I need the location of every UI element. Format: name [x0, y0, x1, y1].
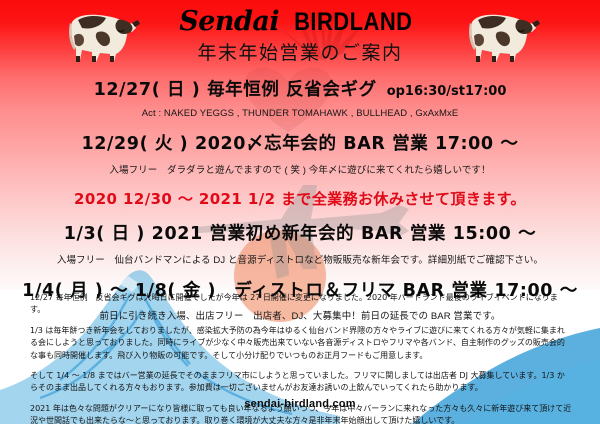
- event-subtext-1229: 入場フリー ダラダラと遊んでますので ( 笑 ) 今年〆に遊びに来てくれたら嬉し…: [0, 162, 600, 176]
- event-subtext-1227: Act : NAKED YEGGS , THUNDER TOMAHAWK , B…: [0, 108, 600, 119]
- event-title-1227: 12/27( 日 ) 毎年恒例 反省会ギグ: [94, 80, 377, 100]
- logo-script-text: Sendai: [179, 6, 279, 37]
- event-subtext-0103: 入場フリー 仙台バンドマンによる DJ と音源ディストロなど物販販売な新年会です…: [0, 252, 600, 266]
- poster-canvas: SendaiBIRDLAND 年末年始営業のご案内 12/27( 日 ) 毎年恒…: [0, 0, 600, 424]
- body-paragraph-3: そして 1/4 〜 1/8 まではバー営業の延長でそのままフリマ市にしようと思っ…: [30, 370, 572, 395]
- holiday-closure-notice: 2020 12/30 〜 2021 1/2 まで全業務お休みさせて頂きます。: [0, 188, 600, 209]
- event-headline-0103: 1/3( 日 ) 2021 営業初め新年会的 BAR 営業 15:00 〜: [0, 220, 600, 245]
- event-time-1227: op16:30/st17:00: [387, 84, 507, 99]
- brand-logo: SendaiBIRDLAND: [0, 6, 600, 37]
- body-paragraph-2: 1/3 は毎年餅つき新年会をしておりましたが、感染拡大予防の為今年はゆるく仙台バ…: [30, 325, 572, 362]
- website-url[interactable]: sendai-birdland.com: [0, 398, 600, 410]
- logo-bold-text: BIRDLAND: [294, 8, 412, 37]
- poster-subtitle: 年末年始営業のご案内: [0, 38, 600, 65]
- event-headline-1229: 12/29( 火 ) 2020〆忘年会的 BAR 営業 17:00 〜: [0, 130, 600, 155]
- poster-header: SendaiBIRDLAND 年末年始営業のご案内: [0, 0, 600, 68]
- events-section: 12/27( 日 ) 毎年恒例 反省会ギグop16:30/st17:00 Act…: [0, 70, 600, 322]
- event-headline-1227: 12/27( 日 ) 毎年恒例 反省会ギグop16:30/st17:00: [0, 76, 600, 101]
- body-paragraph-1: 12/27 毎年恒例 反省会ギグは大晦日に開催でしたが今年は 27 日開催に変更…: [30, 292, 572, 317]
